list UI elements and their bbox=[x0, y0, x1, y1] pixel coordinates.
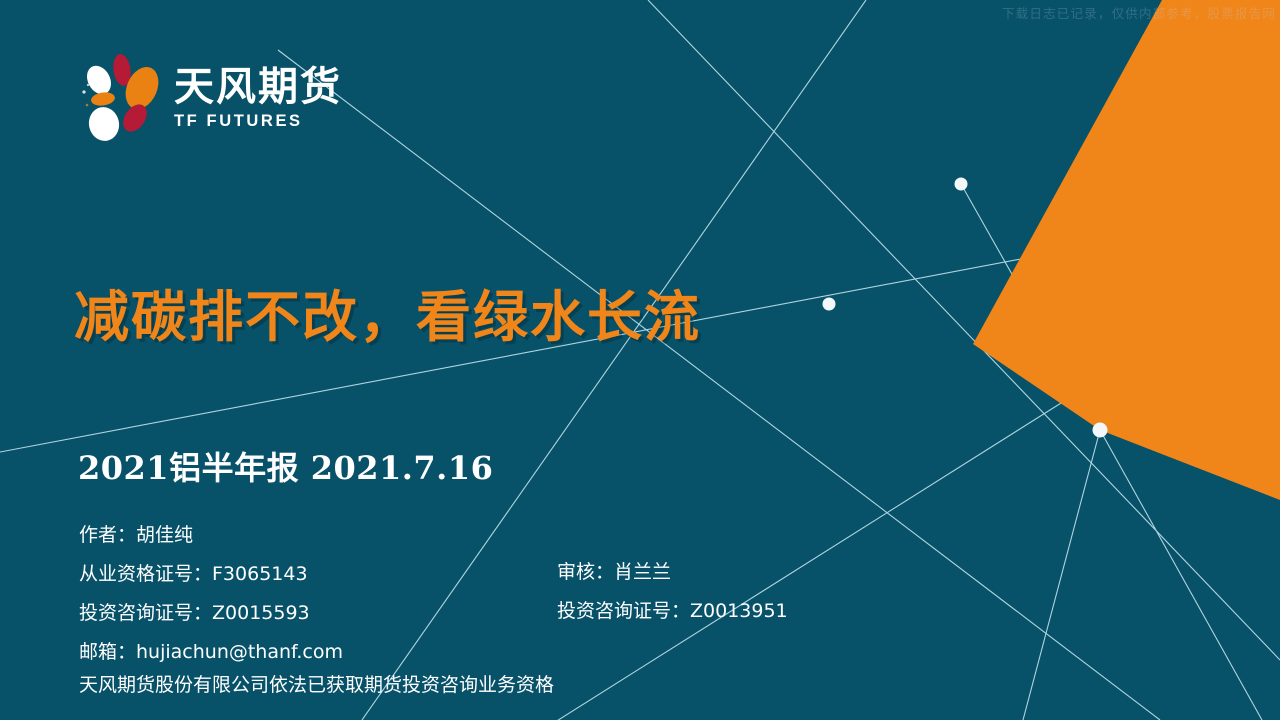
reviewer-info-block: 审核：肖兰兰 投资咨询证号：Z0013951 bbox=[557, 553, 788, 631]
reviewer-name: 审核：肖兰兰 bbox=[557, 553, 788, 592]
author-info-block: 作者：胡佳纯 从业资格证号：F3065143 投资咨询证号：Z0015593 邮… bbox=[79, 516, 343, 672]
footer-disclaimer: 天风期货股份有限公司依法已获取期货投资咨询业务资格 bbox=[79, 670, 554, 697]
brand-name-en: TF FUTURES bbox=[174, 112, 342, 131]
author-consulting-license: 投资咨询证号：Z0015593 bbox=[79, 594, 343, 633]
author-name: 作者：胡佳纯 bbox=[79, 516, 343, 555]
brand-name-cn: 天风期货 bbox=[174, 66, 342, 108]
brand-logo: 天风期货 TF FUTURES bbox=[78, 52, 342, 144]
page-title: 减碳排不改，看绿水长流 bbox=[74, 272, 701, 352]
brand-wordmark: 天风期货 TF FUTURES bbox=[174, 66, 342, 131]
node-dot bbox=[823, 298, 836, 311]
watermark-text: 下载日志已记录，仅供内部参考，股票报告网 bbox=[1002, 3, 1276, 22]
author-practice-license: 从业资格证号：F3065143 bbox=[79, 555, 343, 594]
report-subtitle: 2021铝半年报 2021.7.16 bbox=[78, 443, 493, 489]
node-dot bbox=[1093, 423, 1108, 438]
tf-futures-petal-logo-icon bbox=[78, 52, 166, 144]
node-dot bbox=[955, 178, 968, 191]
author-email: 邮箱：hujiachun@thanf.com bbox=[79, 633, 343, 672]
slide-cover: 下载日志已记录，仅供内部参考，股票报告网 天风期货 TF FUTURES 减碳排 bbox=[0, 0, 1280, 720]
reviewer-consulting-license: 投资咨询证号：Z0013951 bbox=[557, 592, 788, 631]
